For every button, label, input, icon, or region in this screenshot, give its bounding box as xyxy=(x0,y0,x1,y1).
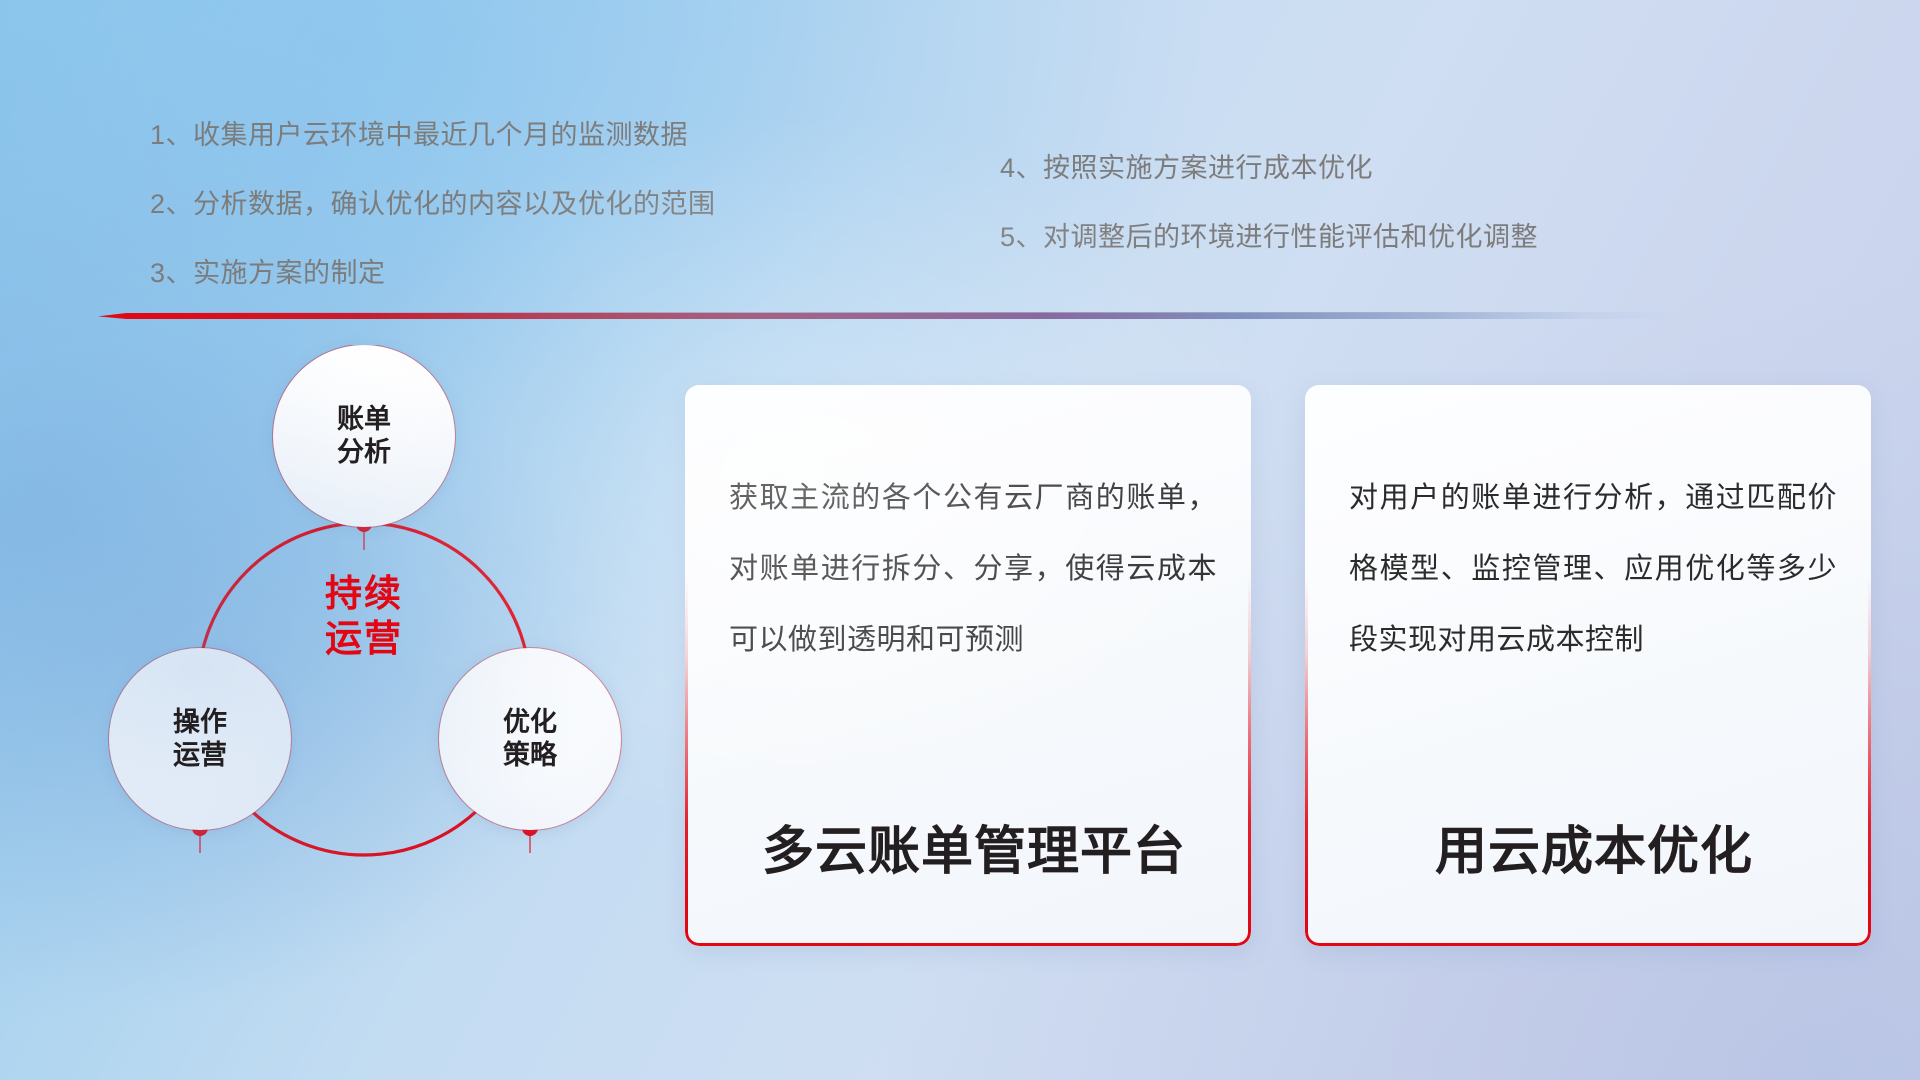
steps-right-column: 4、按照实施方案进行成本优化 5、对调整后的环境进行性能评估和优化调整 xyxy=(1000,155,1538,251)
venn-bubble-label: 优化 策略 xyxy=(503,706,557,772)
steps-left-column: 1、收集用户云环境中最近几个月的监测数据 2、分析数据，确认优化的内容以及优化的… xyxy=(150,122,716,287)
continuous-operation-diagram: 账单 分析 操作 运营 优化 策略 持续 运营 xyxy=(95,345,665,945)
slide-canvas: 1、收集用户云环境中最近几个月的监测数据 2、分析数据，确认优化的内容以及优化的… xyxy=(0,0,1920,1080)
venn-center-label: 持续 运营 xyxy=(273,541,455,691)
step-item: 3、实施方案的制定 xyxy=(150,260,716,287)
divider-gradient-bar xyxy=(98,312,1678,319)
venn-center-label-line1: 持续 xyxy=(325,571,403,616)
card-body-text: 获取主流的各个公有云厂商的账单，对账单进行拆分、分享，使得云成本可以做到透明和可… xyxy=(729,463,1217,676)
venn-bubble-bill-analysis[interactable]: 账单 分析 xyxy=(273,345,455,527)
venn-bubble-operation-ops[interactable]: 操作 运营 xyxy=(109,648,291,830)
card-multi-cloud-bill-platform[interactable]: 获取主流的各个公有云厂商的账单，对账单进行拆分、分享，使得云成本可以做到透明和可… xyxy=(685,385,1251,946)
venn-center-label-line2: 运营 xyxy=(325,616,403,661)
section-divider xyxy=(98,312,1678,319)
venn-bubble-label: 操作 运营 xyxy=(173,706,227,772)
step-item: 4、按照实施方案进行成本优化 xyxy=(1000,155,1538,182)
card-body-text: 对用户的账单进行分析，通过匹配价格模型、监控管理、应用优化等多少段实现对用云成本… xyxy=(1349,463,1837,676)
venn-bubble-optimize-strategy[interactable]: 优化 策略 xyxy=(439,648,621,830)
step-item: 2、分析数据，确认优化的内容以及优化的范围 xyxy=(150,191,716,218)
venn-bubble-label: 账单 分析 xyxy=(337,403,391,469)
step-item: 5、对调整后的环境进行性能评估和优化调整 xyxy=(1000,224,1538,251)
card-title: 用云成本优化 xyxy=(1351,809,1837,884)
card-title: 多云账单管理平台 xyxy=(731,809,1217,884)
step-item: 1、收集用户云环境中最近几个月的监测数据 xyxy=(150,122,716,149)
card-cloud-cost-optimization[interactable]: 对用户的账单进行分析，通过匹配价格模型、监控管理、应用优化等多少段实现对用云成本… xyxy=(1305,385,1871,946)
